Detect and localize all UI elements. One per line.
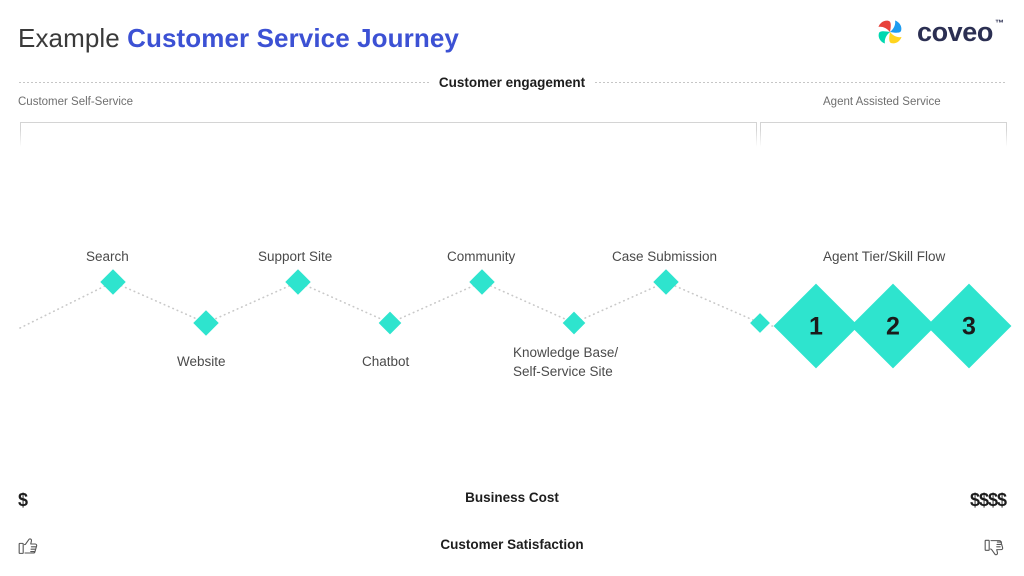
coveo-pinwheel-logo-icon <box>872 14 908 50</box>
brand-wordmark: coveo ™ <box>917 17 1004 47</box>
page-title-light: Example <box>18 23 120 53</box>
engagement-band-label: Customer engagement <box>430 75 594 90</box>
agent-flow-label: Agent Tier/Skill Flow <box>823 248 945 266</box>
business-cost-label: Business Cost <box>0 490 1024 505</box>
business-cost-high-value: $$$$ <box>970 490 1006 511</box>
brand-name: coveo <box>917 17 993 47</box>
agent-tier-number-3: 3 <box>962 313 976 342</box>
lane-label-agent-assisted-service: Agent Assisted Service <box>823 96 941 108</box>
step-label-support-site: Support Site <box>258 248 332 266</box>
lane-labels: Customer Self-Service Agent Assisted Ser… <box>0 96 1024 114</box>
step-label-search: Search <box>86 248 129 266</box>
customer-engagement-band: Customer engagement <box>18 72 1006 92</box>
agent-tier-number-2: 2 <box>886 313 900 342</box>
step-label-website: Website <box>177 353 226 371</box>
brand-logo: coveo ™ <box>872 14 1004 50</box>
engagement-dotted-line-left <box>18 82 430 83</box>
step-label-chatbot: Chatbot <box>362 353 409 371</box>
slide-canvas: Example Customer Service Journey coveo <box>0 0 1024 576</box>
cost-satisfaction-divider <box>18 518 1006 521</box>
agent-tier-number-1: 1 <box>809 313 823 342</box>
engagement-dotted-line-right <box>594 82 1006 83</box>
journey-diagram: Search Website Support Site Chatbot Comm… <box>0 200 1024 420</box>
step-label-knowledge-base-line1: Knowledge Base/ <box>513 345 618 360</box>
trademark-symbol: ™ <box>995 17 1004 29</box>
step-label-knowledge-base-line2: Self-Service Site <box>513 364 613 379</box>
step-label-case-submission: Case Submission <box>612 248 717 266</box>
step-label-community: Community <box>447 248 515 266</box>
step-label-knowledge-base: Knowledge Base/ Self-Service Site <box>513 343 663 381</box>
metric-business-cost: $ Business Cost $$$$ <box>0 490 1024 516</box>
page-title: Example Customer Service Journey <box>18 22 459 54</box>
page-title-bold: Customer Service Journey <box>127 23 459 53</box>
thumbs-down-icon <box>984 537 1006 563</box>
metric-customer-satisfaction: Customer Satisfaction <box>0 537 1024 563</box>
lane-bracket-customer-self-service <box>20 122 757 147</box>
customer-satisfaction-label: Customer Satisfaction <box>0 537 1024 552</box>
lane-bracket-agent-assisted-service <box>760 122 1007 147</box>
lane-label-customer-self-service: Customer Self-Service <box>18 96 133 108</box>
